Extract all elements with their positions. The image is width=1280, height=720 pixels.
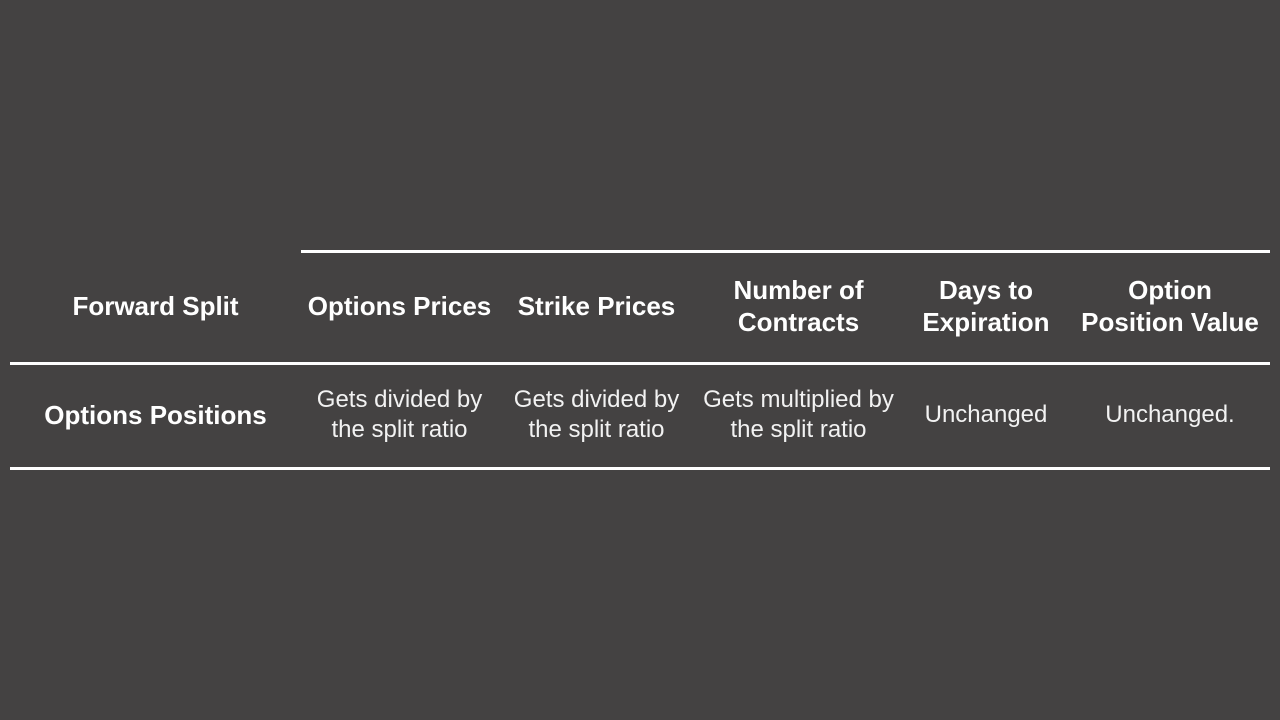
column-header-options-prices: Options Prices <box>301 253 498 364</box>
column-header-strike-prices: Strike Prices <box>498 253 695 364</box>
cell-strike-prices: Gets divided by the split ratio <box>498 364 695 469</box>
table-body: Options Positions Gets divided by the sp… <box>10 364 1270 469</box>
cell-option-position-value: Unchanged. <box>1070 364 1270 469</box>
page-stage: Forward Split Options Prices Strike Pric… <box>0 0 1280 720</box>
column-header-number-of-contracts: Number of Contracts <box>695 253 902 364</box>
table-header-row: Forward Split Options Prices Strike Pric… <box>10 253 1270 364</box>
column-header-days-to-expiration: Days to Expiration <box>902 253 1070 364</box>
column-header-option-position-value: Option Position Value <box>1070 253 1270 364</box>
cell-number-of-contracts: Gets multiplied by the split ratio <box>695 364 902 469</box>
column-header-forward-split: Forward Split <box>10 253 301 364</box>
table-head: Forward Split Options Prices Strike Pric… <box>10 250 1270 364</box>
cell-days-to-expiration: Unchanged <box>902 364 1070 469</box>
row-header-options-positions: Options Positions <box>10 364 301 469</box>
forward-split-options-table: Forward Split Options Prices Strike Pric… <box>10 250 1270 470</box>
table-container: Forward Split Options Prices Strike Pric… <box>0 250 1280 470</box>
table-row: Options Positions Gets divided by the sp… <box>10 364 1270 469</box>
cell-options-prices: Gets divided by the split ratio <box>301 364 498 469</box>
